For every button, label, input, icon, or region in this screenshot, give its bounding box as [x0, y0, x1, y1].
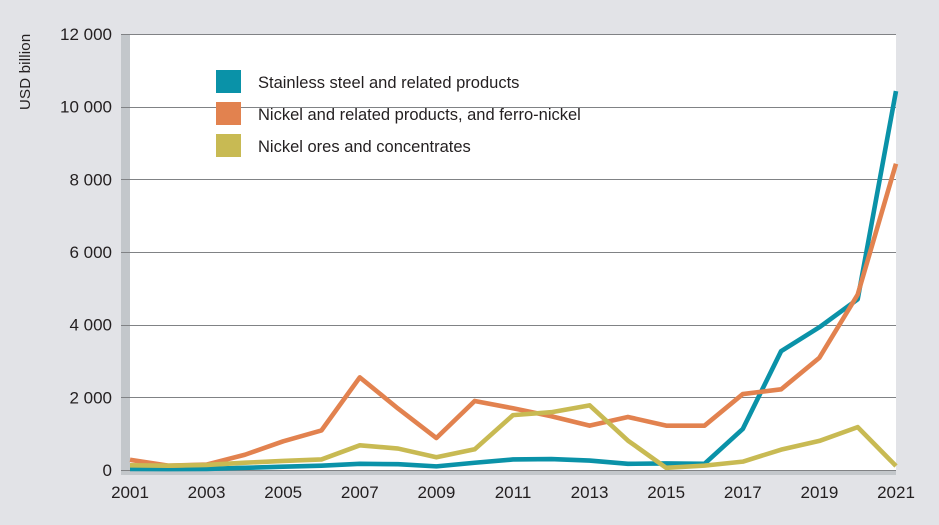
x-tick-label-2015: 2015 [647, 483, 685, 502]
x-tick-label-2005: 2005 [264, 483, 302, 502]
y-tick-label-0: 0 [103, 461, 112, 480]
y-tick-label-4000: 4 000 [69, 316, 112, 335]
y-axis-band [121, 34, 130, 474]
x-tick-label-2013: 2013 [571, 483, 609, 502]
chart-container: 02 0004 0006 0008 00010 00012 000 200120… [0, 0, 939, 525]
x-tick-label-2011: 2011 [495, 483, 532, 502]
x-tick-label-2009: 2009 [417, 483, 455, 502]
y-tick-label-8000: 8 000 [69, 170, 112, 189]
legend-label-0: Stainless steel and related products [258, 74, 519, 92]
legend-label-1: Nickel and related products, and ferro-n… [258, 106, 581, 124]
x-tick-label-2017: 2017 [724, 483, 762, 502]
x-tick-label-2001: 2001 [111, 483, 149, 502]
y-tick-label-12000: 12 000 [60, 25, 112, 44]
y-axis-title: USD billion [17, 34, 34, 110]
legend-swatch-orange [216, 102, 241, 125]
x-tick-label-2003: 2003 [188, 483, 226, 502]
x-tick-label-2007: 2007 [341, 483, 379, 502]
x-tick-label-2019: 2019 [800, 483, 838, 502]
legend-swatch-teal [216, 70, 241, 93]
line-chart: 02 0004 0006 0008 00010 00012 000 200120… [0, 0, 939, 525]
y-tick-label-6000: 6 000 [69, 243, 112, 262]
y-tick-label-10000: 10 000 [60, 98, 112, 117]
legend-label-2: Nickel ores and concentrates [258, 138, 471, 156]
y-tick-label-2000: 2 000 [69, 388, 112, 407]
legend-swatch-olive [216, 134, 241, 157]
x-tick-label-2021: 2021 [877, 483, 915, 502]
